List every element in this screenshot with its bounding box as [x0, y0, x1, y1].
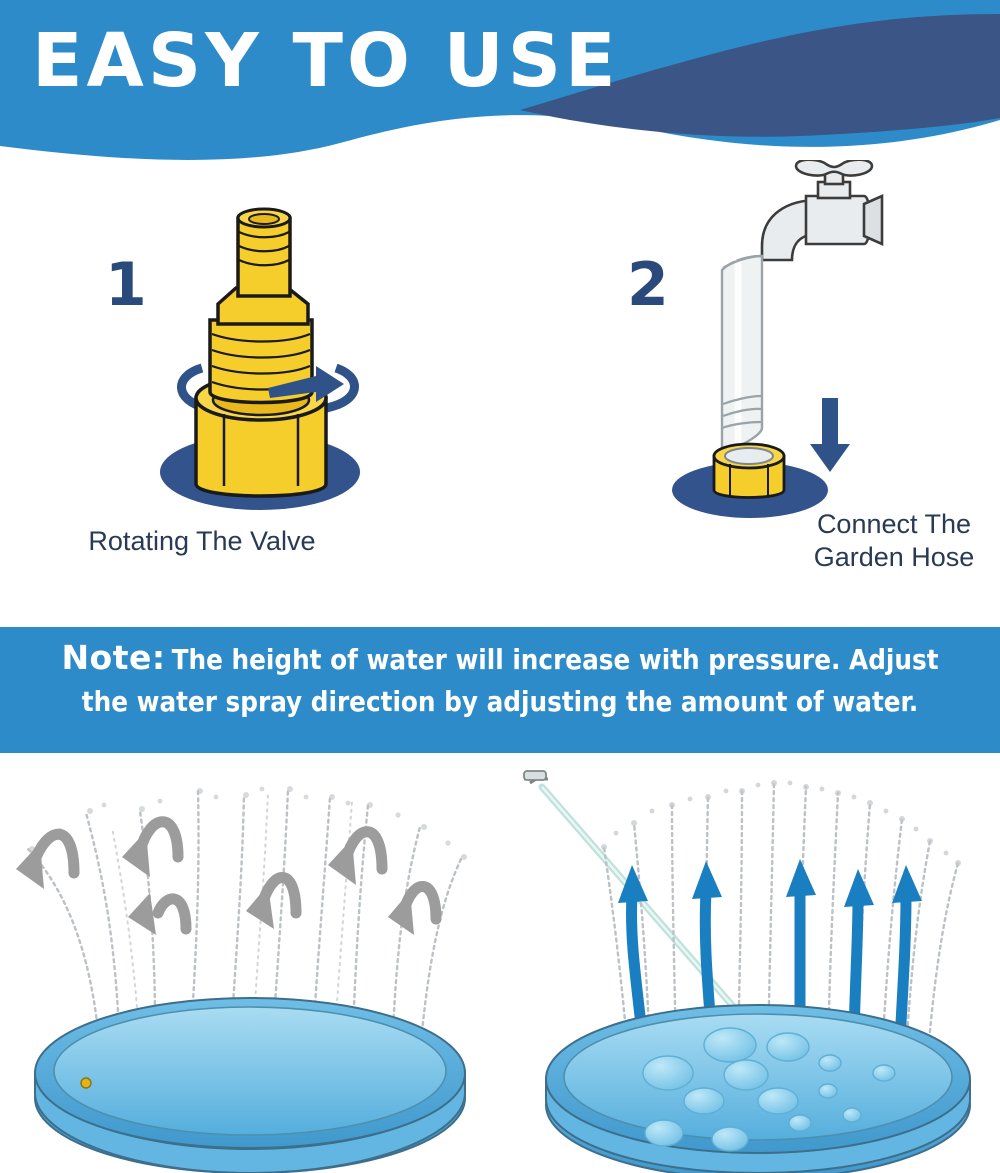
steps-section: 1: [0, 160, 1000, 625]
page-title: EASY TO USE: [32, 18, 672, 104]
note-line-2: the water spray direction by adjusting t…: [26, 681, 974, 723]
step-1: 1: [0, 160, 500, 625]
low-pressure-splash-pad: [0, 753, 500, 1173]
pads-section: [0, 753, 1000, 1173]
high-pressure-splash-pad: [500, 753, 1000, 1173]
step-1-caption: Rotating The Valve: [0, 525, 452, 558]
note-line-1: Note:The height of water will increase w…: [26, 637, 974, 681]
note-label: Note:: [61, 638, 171, 677]
faucet-hose-icon: [610, 160, 910, 520]
note-banner: Note:The height of water will increase w…: [0, 627, 1000, 753]
hose-connector-icon: [140, 200, 380, 520]
note-text-line1: The height of water will increase with p…: [172, 644, 939, 676]
low-pressure-graphic: [0, 753, 500, 1173]
step-2-caption-line2: Garden Hose: [644, 541, 1000, 574]
high-pressure-graphic: [500, 753, 1000, 1173]
step-2-caption: Connect The Garden Hose: [644, 508, 1000, 574]
step-2: 2: [500, 160, 1000, 625]
step-2-caption-line1: Connect The: [644, 508, 1000, 541]
header-banner: EASY TO USE: [0, 0, 1000, 160]
